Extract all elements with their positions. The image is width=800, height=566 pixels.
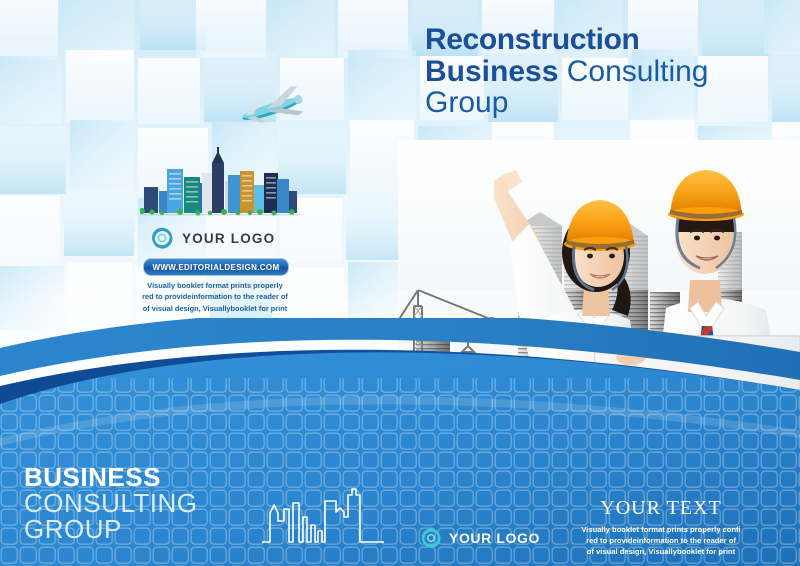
footer-logo-label: YOUR LOGO xyxy=(449,530,540,546)
headline-line-1: Reconstruction xyxy=(425,24,785,56)
brand-blurb: Visually booklet format prints properly … xyxy=(135,280,295,314)
headline-line-2-bold: Business xyxy=(425,55,558,88)
page-title: Reconstruction Business Consulting Group xyxy=(425,24,785,119)
footer-small-line-1: Visually booklet format prints properly … xyxy=(530,524,792,535)
swirl-logo-icon xyxy=(150,226,174,250)
brochure-cover: Reconstruction Business Consulting Group xyxy=(0,0,800,566)
headline-line-3: Group xyxy=(425,87,785,119)
brand-blurb-line-1: Visually booklet format prints properly xyxy=(135,280,295,291)
skyline-outline-graphic xyxy=(262,487,384,543)
brand-logo[interactable]: YOUR LOGO xyxy=(150,226,275,250)
brand-logo-label: YOUR LOGO xyxy=(182,231,275,246)
footer-small-line-3: of visual design, Visuallybooklet for pr… xyxy=(530,546,792,557)
website-url-button[interactable]: WWW.EDITORIALDESIGN.COM xyxy=(143,258,289,276)
brand-blurb-line-2: red to provideinformation to the reader … xyxy=(135,291,295,302)
brand-blurb-line-3: of visual design, Visuallybooklet for pr… xyxy=(135,303,295,314)
headline-line-2-light: Consulting xyxy=(558,55,708,88)
airplane-icon xyxy=(236,82,314,128)
city-skyline-illustration xyxy=(140,147,300,219)
your-text-heading: YOUR TEXT xyxy=(530,497,792,520)
swirl-logo-icon xyxy=(420,527,442,549)
website-url-label: WWW.EDITORIALDESIGN.COM xyxy=(152,263,279,272)
footer-logo[interactable]: YOUR LOGO xyxy=(420,527,540,549)
footer-small-line-2: red to provideinformation to the reader … xyxy=(530,535,792,546)
footer-text-block: YOUR TEXT Visually booklet format prints… xyxy=(530,497,792,557)
